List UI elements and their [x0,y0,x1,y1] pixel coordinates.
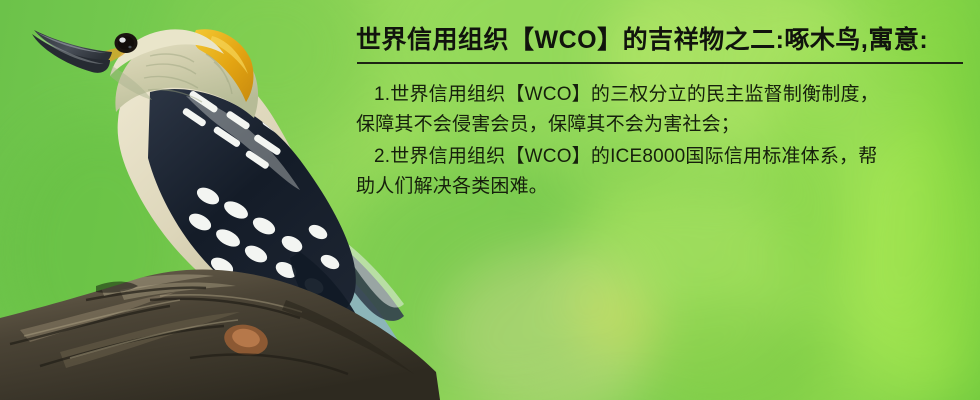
wco-mascot-banner: 世界信用组织【WCO】的吉祥物之二:啄木鸟,寓意: 1.世界信用组织【WCO】的… [0,0,980,400]
text-panel: 世界信用组织【WCO】的吉祥物之二:啄木鸟,寓意: 1.世界信用组织【WCO】的… [344,24,974,202]
list-item: 1.世界信用组织【WCO】的三权分立的民主监督制衡制度， 保障其不会侵害会员，保… [356,80,974,140]
list-item-text: 世界信用组织【WCO】的三权分立的民主监督制衡制度， [390,84,879,105]
background-yellow-bud [620,318,650,342]
mascot-meaning-list: 1.世界信用组织【WCO】的三权分立的民主监督制衡制度， 保障其不会侵害会员，保… [344,80,974,202]
list-item-line: 1.世界信用组织【WCO】的三权分立的民主监督制衡制度， [356,80,974,110]
list-item-marker: 1. [374,84,390,105]
list-item-line: 2.世界信用组织【WCO】的ICE8000国际信用标准体系，帮 [356,142,974,172]
list-item: 2.世界信用组织【WCO】的ICE8000国际信用标准体系，帮 助人们解决各类困… [356,142,974,202]
bird-eye [115,33,138,53]
list-item-text: 世界信用组织【WCO】的ICE8000国际信用标准体系，帮 [390,146,877,167]
bird-beak [32,30,112,73]
title-underline-rule [357,62,963,64]
page-title: 世界信用组织【WCO】的吉祥物之二:啄木鸟,寓意: [344,24,974,56]
list-item-line: 助人们解决各类困难。 [356,172,974,202]
list-item-line: 保障其不会侵害会员，保障其不会为害社会； [356,110,974,140]
list-item-marker: 2. [374,146,390,167]
